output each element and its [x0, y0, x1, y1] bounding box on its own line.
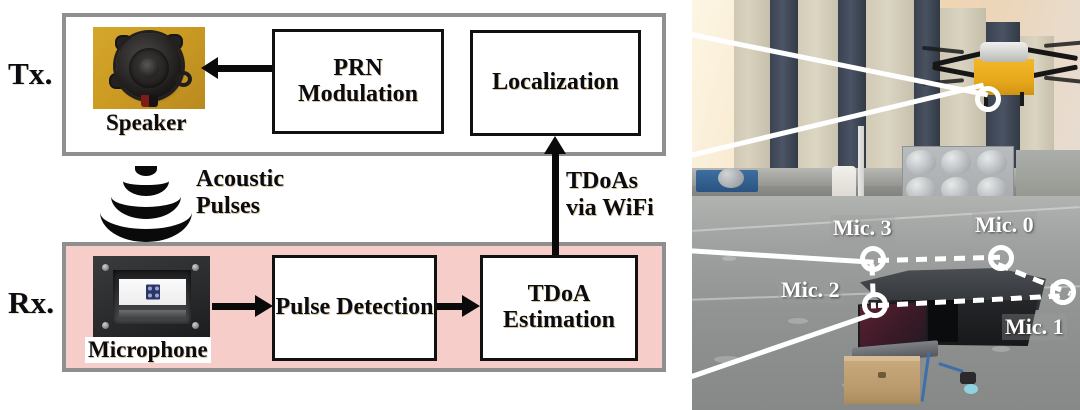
arrow-prn-to-speaker-shaft	[215, 65, 273, 72]
drone-leg	[1020, 92, 1024, 106]
arrow-left-icon	[201, 57, 218, 79]
speaker-caption: Speaker	[103, 110, 190, 136]
speaker-dust-cap	[139, 58, 159, 78]
office-tower-glass	[770, 0, 798, 176]
rooftop-fan	[718, 168, 744, 188]
tank-panel	[906, 150, 936, 175]
microphone-connector-strip	[119, 310, 186, 319]
tank-panel	[977, 150, 1007, 175]
screw-icon	[102, 322, 109, 329]
box-handle-hole	[878, 372, 886, 378]
speaker-mount-ring	[175, 71, 192, 87]
mic-label-1: Mic. 1	[1002, 314, 1067, 340]
block-pulse-detection[interactable]: Pulse Detection	[272, 255, 437, 361]
cardboard-box	[844, 356, 920, 404]
drone-speaker-marker[interactable]	[975, 86, 1001, 112]
figure-root: Tx. Rx. Speaker PRN Modulation Localizat…	[0, 0, 1080, 410]
block-tdoa-estimation[interactable]: TDoA Estimation	[480, 255, 638, 361]
tdoas-via-wifi-label: TDoAs via WiFi	[566, 168, 654, 222]
white-water-tank	[832, 166, 856, 198]
arrow-tdoa-to-localization-shaft	[552, 152, 559, 255]
block-localization[interactable]: Localization	[470, 30, 641, 136]
microphone-caption: Microphone	[85, 337, 211, 363]
ground-speck	[788, 318, 808, 324]
arrow-up-icon	[544, 136, 566, 154]
power-plug	[964, 384, 978, 394]
microphone-photo	[93, 256, 210, 340]
screw-icon	[192, 322, 199, 329]
mems-microphone-chip	[146, 285, 160, 300]
speaker-photo	[93, 27, 205, 109]
arrow-right-icon	[462, 295, 480, 317]
mic-marker-1[interactable]	[1050, 279, 1076, 305]
wave-arc	[135, 166, 157, 176]
mic-label-3: Mic. 3	[830, 215, 895, 241]
mic-label-2: Mic. 2	[778, 277, 843, 303]
speaker-wire	[141, 95, 158, 107]
mic-marker-0[interactable]	[988, 245, 1014, 271]
microphone-pcb	[119, 279, 186, 305]
screw-icon	[192, 264, 199, 271]
system-block-diagram: Tx. Rx. Speaker PRN Modulation Localizat…	[0, 0, 680, 410]
tx-side-label: Tx.	[8, 56, 53, 92]
mic-marker-2[interactable]	[862, 292, 888, 318]
drone-body	[980, 42, 1028, 62]
ground-speck	[722, 256, 736, 261]
acoustic-pulses-label: Acoustic Pulses	[196, 166, 284, 220]
ground-speck	[992, 346, 1010, 352]
power-adapter	[960, 372, 976, 384]
block-prn-modulation[interactable]: PRN Modulation	[272, 29, 444, 134]
office-tower	[798, 0, 838, 178]
office-tower	[734, 0, 770, 174]
mic-marker-3[interactable]	[860, 246, 886, 272]
screw-icon	[102, 264, 109, 271]
box-lid	[844, 356, 920, 361]
acoustic-waves-icon	[100, 166, 192, 236]
arrow-mic-to-detection-shaft	[212, 303, 258, 310]
rooftop-structure	[1016, 150, 1080, 202]
experiment-scene-photo: Mic. 3 Mic. 0 Mic. 2 Mic. 1	[692, 0, 1080, 410]
mic-label-0: Mic. 0	[972, 212, 1037, 238]
wave-arc	[100, 208, 192, 242]
light-pole	[858, 126, 864, 204]
arrow-right-icon	[255, 295, 273, 317]
rx-side-label: Rx.	[8, 285, 54, 321]
tank-panel	[941, 150, 971, 175]
